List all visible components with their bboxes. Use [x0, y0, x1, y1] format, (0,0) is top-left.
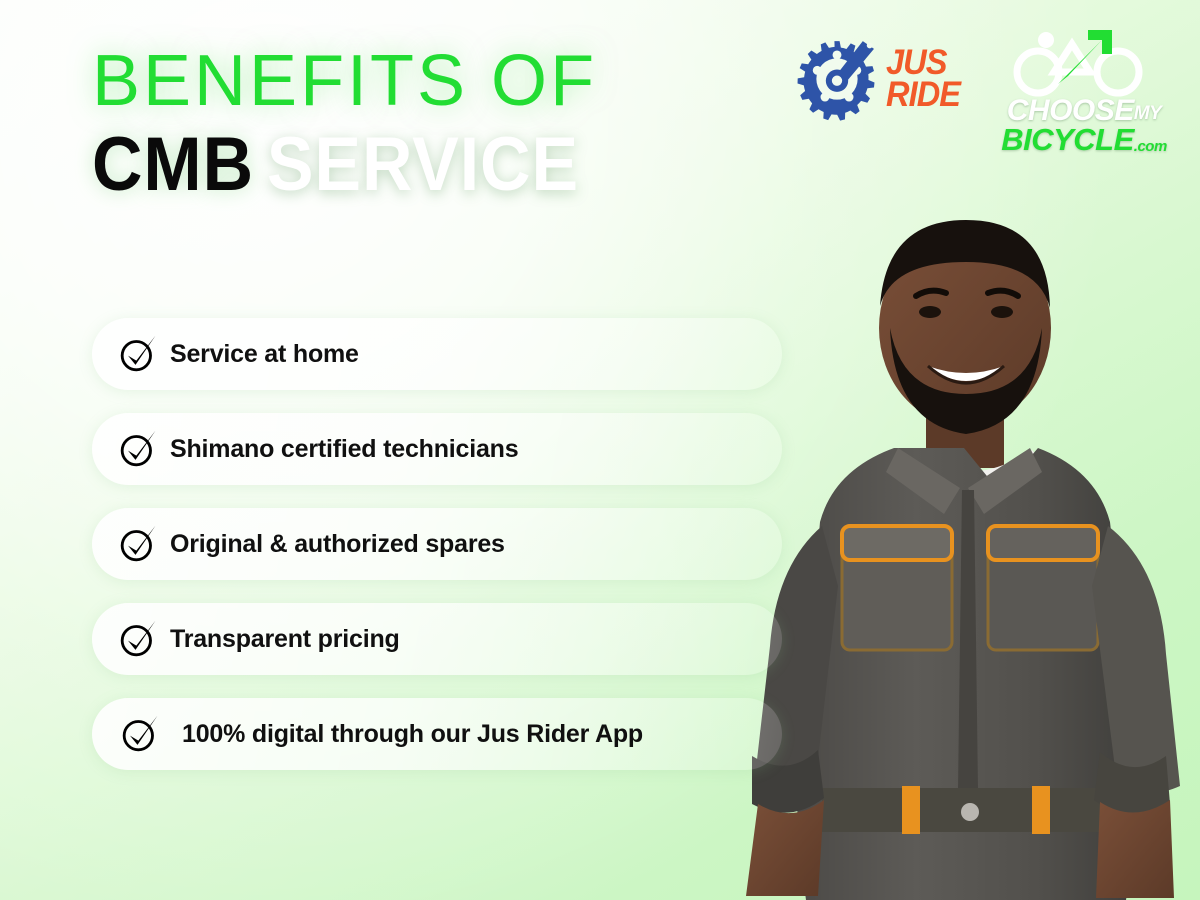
benefit-label: 100% digital through our Jus Rider App [182, 720, 643, 749]
headline-word-cmb: CMB [92, 122, 254, 207]
benefit-label: Original & authorized spares [170, 530, 505, 559]
benefits-list: Service at home Shimano certified techni… [92, 318, 782, 793]
bicycle-arrow-icon [994, 28, 1174, 98]
logo-jusride[interactable]: JUS RIDE [794, 28, 966, 122]
benefit-label: Shimano certified technicians [170, 435, 518, 464]
benefit-item[interactable]: Transparent pricing [92, 603, 782, 675]
page-title: BENEFITS OF CMBSERVICE [92, 44, 792, 206]
cmb-wordmark: CHOOSEMY BICYCLE.com [1001, 96, 1167, 155]
benefit-label: Service at home [170, 340, 359, 369]
benefit-item[interactable]: Original & authorized spares [92, 508, 782, 580]
jusride-line-2: RIDE [886, 79, 960, 111]
benefit-item[interactable]: Shimano certified technicians [92, 413, 782, 485]
check-circle-icon [118, 429, 158, 469]
check-circle-icon [118, 619, 158, 659]
cmb-bicycle-text: BICYCLE [1001, 122, 1134, 157]
cmb-dotcom-text: .com [1134, 138, 1167, 155]
logo-group: JUS RIDE CHOOSEMY BICYCLE.com [794, 28, 1174, 155]
headline-line-1: BENEFITS OF [92, 44, 792, 118]
check-circle-icon [120, 714, 160, 754]
headline-word-service: SERVICE [267, 122, 579, 207]
check-circle-icon [118, 524, 158, 564]
check-circle-icon [118, 334, 158, 374]
chainring-crank-icon [794, 36, 880, 122]
cmb-my-text: MY [1134, 103, 1162, 124]
benefit-item[interactable]: Service at home [92, 318, 782, 390]
technician-photo [730, 200, 1200, 900]
cmb-word-bicycle: BICYCLE.com [1001, 124, 1167, 155]
poster-canvas: BENEFITS OF CMBSERVICE [0, 0, 1200, 900]
logo-choosemybicycle[interactable]: CHOOSEMY BICYCLE.com [994, 28, 1174, 155]
jusride-wordmark: JUS RIDE [886, 47, 966, 111]
headline-line-2: CMBSERVICE [92, 124, 736, 206]
benefit-item[interactable]: 100% digital through our Jus Rider App [92, 698, 782, 770]
benefit-label: Transparent pricing [170, 625, 400, 654]
